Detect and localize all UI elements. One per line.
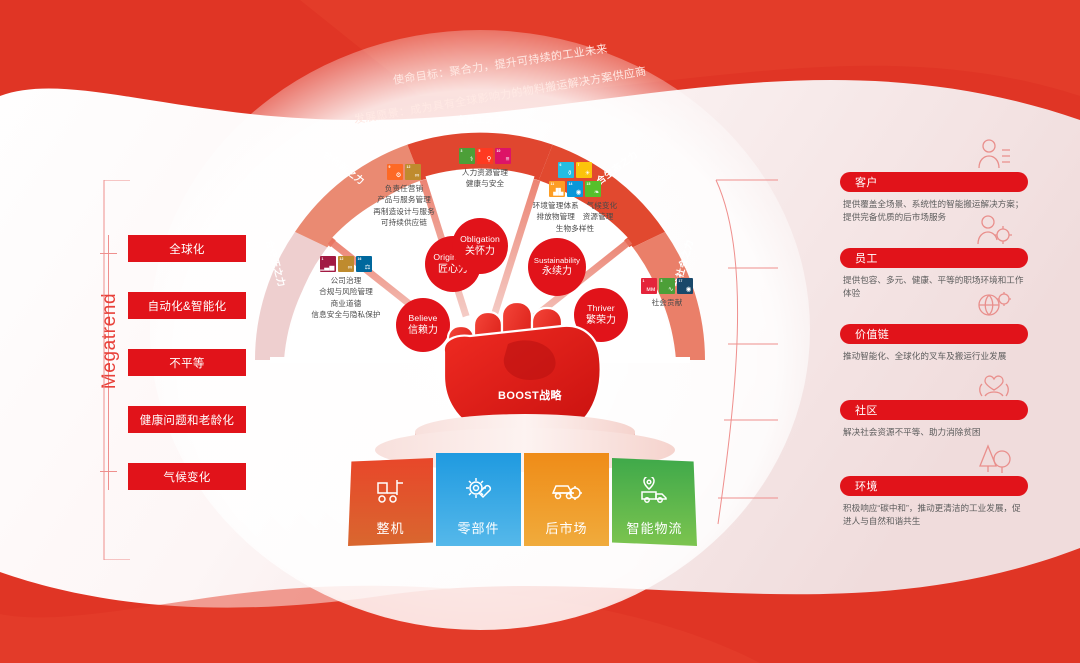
topic: 排放物管理 资源管理 [512, 211, 638, 222]
stakeholder-body: 推动智能化、全球化的叉车及搬运行业发展 [840, 350, 1028, 363]
sdg-tile: 1ᴍᴍ [641, 278, 657, 294]
gear-wrench-icon [463, 475, 495, 510]
sdg-tile: 10≡ [495, 148, 511, 164]
sdg-tile: 3∿ [659, 278, 675, 294]
topic: 产品与服务管理 [334, 194, 474, 205]
stakeholder-panel: 客户 提供覆盖全场景、系统性的智能搬运解决方案；提供完备优质的后市场服务 员工 … [778, 150, 1080, 570]
sdg-tile: 7☀ [576, 162, 592, 178]
sdg-tile: 12∞ [405, 164, 421, 180]
forklift-icon [374, 477, 408, 510]
sdg-tile: 17◉ [677, 278, 693, 294]
stakeholder-body: 积极响应“碳中和”，推动更清洁的工业发展，促进人与自然和谐共生 [840, 502, 1028, 528]
car-gear-icon [550, 477, 584, 510]
stakeholder-value-chain: 价值链 推动智能化、全球化的叉车及搬运行业发展 [840, 324, 1028, 363]
topic: 生物多样性 [512, 223, 638, 234]
sdg-tile: 9⚙ [387, 164, 403, 180]
stakeholder-title[interactable]: 价值链 [840, 324, 1028, 344]
stakeholder-body: 解决社会资源不平等、助力消除贫困 [840, 426, 1028, 439]
arc-label-employee: 合员工之力 [456, 112, 505, 126]
pill-cn: 关怀力 [465, 246, 495, 259]
topic: 信息安全与隐私保护 [276, 309, 416, 320]
infographic-canvas: 使命目标：聚合力，提升可持续的工业未来 发展愿景：成为具有全球影响力的物料搬运解… [0, 0, 1080, 663]
stakeholder-environment: 环境 积极响应“碳中和”，推动更清洁的工业发展，促进人与自然和谐共生 [840, 476, 1028, 528]
smart-truck-icon [638, 477, 672, 510]
business-card-label: 零部件 [457, 518, 499, 537]
segment-governance-content: 1▁▃▅ 12∞ 16⚖ 公司治理 合规与风险管理 商业道德 信息安全与隐私保护 [276, 256, 416, 321]
business-card-aftermarket[interactable]: 后市场 [524, 453, 609, 546]
sdg-row-environment-1: 6⚱ 7☀ [512, 162, 638, 178]
heart-hands-icon [976, 366, 1012, 403]
topic: 环境管理体系 气候变化 [512, 200, 638, 211]
business-card-machine[interactable]: 整机 [348, 458, 433, 546]
sdg-tile: 16⚖ [356, 256, 372, 272]
stakeholder-title[interactable]: 员工 [840, 248, 1028, 268]
topic: 合规与风险管理 [276, 286, 416, 297]
business-card-label: 后市场 [545, 518, 587, 537]
stakeholder-title[interactable]: 环境 [840, 476, 1028, 496]
sdg-tile: 3⚕ [459, 148, 475, 164]
pill-obligation[interactable]: Obligation 关怀力 [452, 218, 508, 274]
globe-gear-icon [976, 290, 1012, 327]
business-segments: 整机 零部件 [348, 450, 700, 550]
sdg-tile: 5⚲ [477, 148, 493, 164]
business-card-label: 智能物流 [626, 518, 682, 537]
megatrend-connector [100, 180, 260, 560]
stakeholder-community: 社区 解决社会资源不平等、助力消除贫困 [840, 400, 1028, 439]
sdg-tile: 11▟▙ [549, 181, 565, 197]
topic: 商业道德 [276, 298, 416, 309]
business-card-logistics[interactable]: 智能物流 [612, 458, 697, 546]
tree-icon [976, 442, 1012, 479]
business-card-parts[interactable]: 零部件 [436, 453, 521, 546]
boost-label: BOOST战略 [430, 387, 630, 403]
pill-en: Obligation [460, 234, 500, 245]
sdg-tile: 12∞ [338, 256, 354, 272]
pill-en: Sustainability [534, 256, 580, 265]
customer-icon [976, 138, 1012, 175]
segment-environment-content: 6⚱ 7☀ 11▟▙ 14◉ 15❧ 环境管理体系 气候变化 排放物管理 资源管… [512, 162, 638, 234]
sdg-tile: 14◉ [567, 181, 583, 197]
topic: 公司治理 [276, 275, 416, 286]
sdg-row-governance: 1▁▃▅ 12∞ 16⚖ [276, 256, 416, 272]
business-card-label: 整机 [376, 518, 404, 537]
sdg-tile: 1▁▃▅ [320, 256, 336, 272]
topic: 可持续供应链 [334, 217, 474, 228]
sdg-tile: 15❧ [585, 181, 601, 197]
topic: 再制造设计与服务 [334, 206, 474, 217]
sdg-row-environment-2: 11▟▙ 14◉ 15❧ [512, 181, 638, 197]
sdg-tile: 6⚱ [558, 162, 574, 178]
employee-gear-icon [976, 214, 1012, 251]
pill-cn: 永续力 [542, 266, 572, 279]
stakeholder-title[interactable]: 客户 [840, 172, 1028, 192]
stakeholder-title[interactable]: 社区 [840, 400, 1028, 420]
